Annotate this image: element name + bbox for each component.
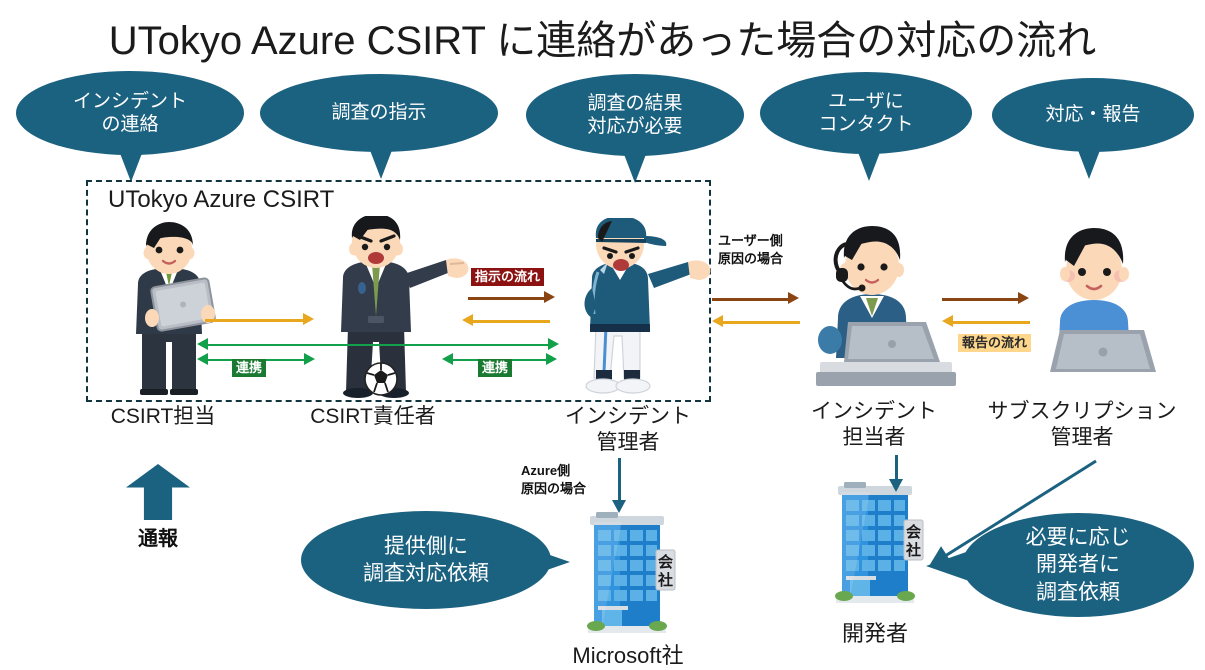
- arrow-head: [712, 315, 723, 327]
- svg-text:社: 社: [657, 571, 673, 589]
- speech-bubble-user-contact: ユーザに コンタクト: [760, 72, 972, 154]
- speech-bubble-text: 必要に応じ 開発者に 調査依頼: [1026, 524, 1131, 606]
- arrow-head: [1018, 292, 1029, 304]
- person-csirt-staff-icon: [108, 222, 230, 397]
- arrow-head: [788, 292, 799, 304]
- person-incident-admin-icon: [562, 218, 714, 396]
- speech-bubble-request-developer: 必要に応じ 開発者に 調査依頼: [962, 513, 1194, 617]
- speech-bubble-tail: [118, 148, 144, 182]
- speech-bubble-text: ユーザに コンタクト: [810, 90, 921, 136]
- arrow-head: [442, 353, 453, 365]
- speech-bubble-text: 調査の結果 対応が必要: [579, 92, 690, 138]
- condition-user-side: ユーザー側 原因の場合: [718, 232, 783, 267]
- person-subscription-admin-icon: [1020, 226, 1170, 388]
- svg-text:会: 会: [658, 553, 673, 571]
- arrow-head: [303, 313, 314, 325]
- arrow-green-long-span: [208, 344, 550, 346]
- building-microsoft-icon: 会 社: [572, 510, 682, 638]
- arrow-head: [546, 353, 557, 365]
- arrow-head: [197, 353, 208, 365]
- tag-cooperation-left: 連携: [232, 359, 266, 377]
- arrow-head: [548, 338, 559, 350]
- caption-csirt-staff: CSIRT担当: [88, 404, 238, 430]
- speech-bubble-text: 提供側に 調査対応依頼: [363, 533, 489, 588]
- arrow-brown-admin-to-handler: [712, 298, 790, 301]
- page-title: UTokyo Azure CSIRT に連絡があった場合の対応の流れ: [0, 8, 1205, 66]
- caption-developer: 開発者: [800, 616, 950, 648]
- report-up-arrow-icon: [126, 464, 190, 520]
- speech-bubble-text: 対応・報告: [1037, 103, 1148, 126]
- arrow-down-to-microsoft: [618, 458, 621, 502]
- speech-bubble-text: 調査の指示: [323, 101, 434, 124]
- arrow-head: [889, 479, 903, 492]
- arrow-head: [462, 314, 473, 326]
- speech-bubble-tail: [524, 546, 570, 578]
- speech-bubble-investigation-result: 調査の結果 対応が必要: [526, 74, 744, 156]
- caption-subscription-admin: サブスクリプション 管理者: [962, 399, 1202, 452]
- speech-bubble-investigation-order: 調査の指示: [260, 74, 498, 152]
- arrow-orange-subadmin-to-handler: [952, 321, 1030, 324]
- caption-csirt-manager: CSIRT責任者: [288, 404, 458, 430]
- tag-instruction-flow: 指示の流れ: [471, 268, 544, 286]
- arrow-orange-handler-to-admin: [722, 321, 800, 324]
- speech-bubble-request-provider: 提供側に 調査対応依頼: [301, 511, 551, 609]
- speech-bubble-text: インシデント の連絡: [65, 90, 195, 136]
- arrow-head: [197, 338, 208, 350]
- speech-bubble-incident-report: インシデント の連絡: [16, 71, 244, 155]
- arrow-brown-handler-to-subadmin: [942, 298, 1020, 301]
- condition-azure-side: Azure側 原因の場合: [521, 462, 586, 497]
- speech-bubble-tail: [856, 147, 882, 181]
- tag-report-flow: 報告の流れ: [958, 334, 1031, 352]
- speech-bubble-tail: [622, 149, 648, 183]
- soccer-ball-icon: [364, 362, 398, 396]
- caption-incident-handler: インシデント 担当者: [790, 399, 958, 452]
- caption-microsoft: Microsoft社: [543, 638, 713, 670]
- arrow-head: [942, 315, 953, 327]
- person-incident-handler-icon: [786, 222, 958, 392]
- speech-bubble-tail: [1076, 145, 1102, 179]
- caption-incident-admin: インシデント 管理者: [548, 404, 708, 457]
- tag-cooperation-right: 連携: [478, 359, 512, 377]
- arrow-orange-admin-to-manager: [472, 320, 550, 323]
- speech-bubble-response-report: 対応・報告: [992, 78, 1194, 152]
- arrow-head: [304, 353, 315, 365]
- csirt-box-label: UTokyo Azure CSIRT: [108, 186, 334, 214]
- arrow-orange-staff-to-manager: [205, 319, 305, 322]
- diagram-canvas: UTokyo Azure CSIRT に連絡があった場合の対応の流れ インシデン…: [0, 0, 1205, 668]
- speech-bubble-tail: [368, 145, 394, 179]
- arrow-down-to-developer: [895, 455, 898, 481]
- arrow-brown-manager-to-admin: [468, 297, 546, 300]
- report-arrow-label: 通報: [110, 522, 206, 551]
- arrow-head: [544, 291, 555, 303]
